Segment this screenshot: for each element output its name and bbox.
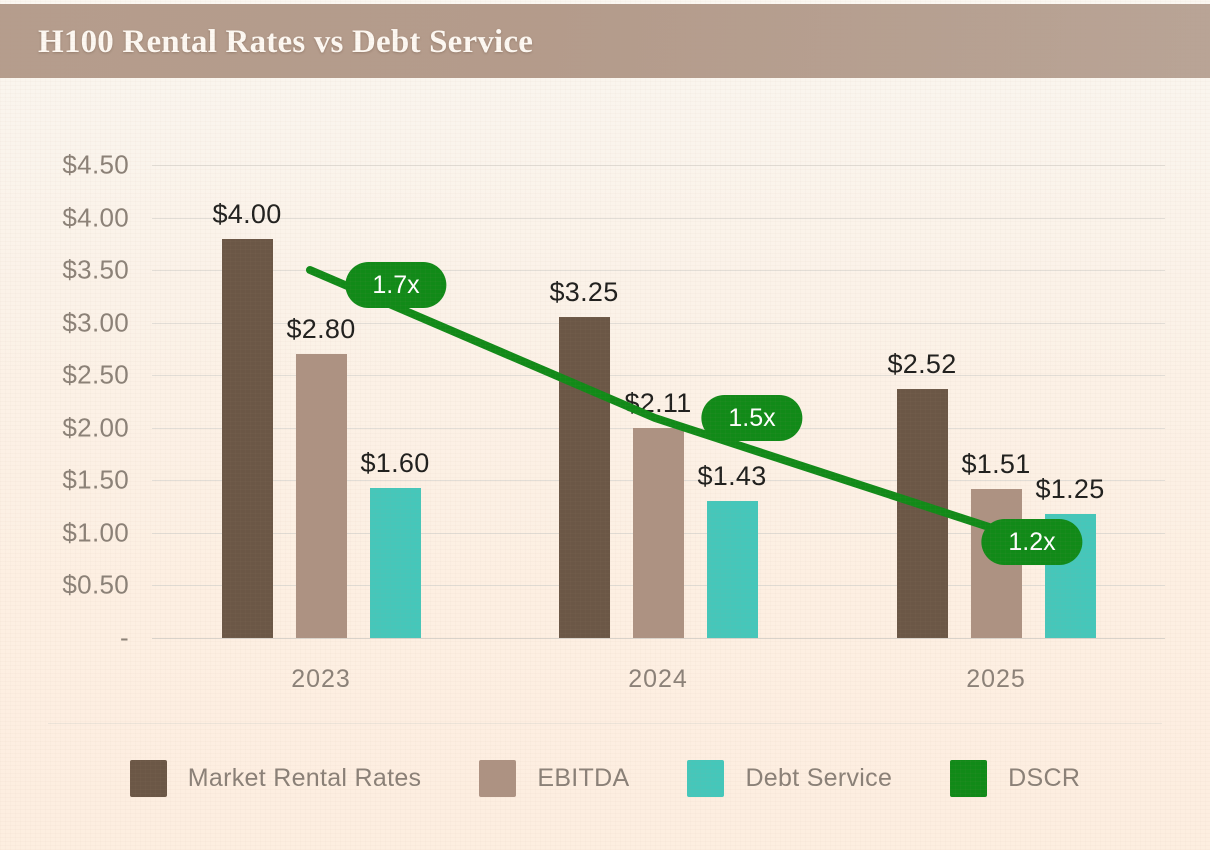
legend-item[interactable]: DSCR — [950, 760, 1080, 797]
header-bar: H100 Rental Rates vs Debt Service — [0, 4, 1210, 78]
legend-swatch-icon — [950, 760, 987, 797]
bar-value-label: $2.80 — [286, 314, 355, 345]
legend-item[interactable]: Debt Service — [687, 760, 892, 797]
legend-label: Debt Service — [745, 764, 892, 793]
x-axis-category-label: 2023 — [291, 665, 351, 694]
bar-value-label: $1.25 — [1035, 474, 1104, 505]
legend: Market Rental RatesEBITDADebt ServiceDSC… — [0, 760, 1210, 797]
bar — [633, 428, 684, 638]
legend-divider — [48, 723, 1162, 724]
page-title: H100 Rental Rates vs Debt Service — [38, 24, 533, 61]
legend-label: Market Rental Rates — [188, 764, 422, 793]
bar-value-label: $1.60 — [360, 448, 429, 479]
legend-item[interactable]: EBITDA — [479, 760, 629, 797]
bar — [370, 488, 421, 638]
bar-value-label: $1.43 — [697, 461, 766, 492]
bar-value-label: $4.00 — [212, 199, 281, 230]
x-axis-category-label: 2025 — [966, 665, 1026, 694]
bar — [296, 354, 347, 638]
bar — [897, 389, 948, 638]
chart-card: H100 Rental Rates vs Debt Service -$0.50… — [0, 0, 1210, 850]
bar-value-label: $2.52 — [887, 349, 956, 380]
legend-swatch-icon — [130, 760, 167, 797]
bar — [559, 317, 610, 638]
bar-value-label: $1.51 — [961, 449, 1030, 480]
legend-swatch-icon — [479, 760, 516, 797]
legend-item[interactable]: Market Rental Rates — [130, 760, 422, 797]
top-edge-strip — [0, 0, 1210, 4]
dscr-value-pill: 1.5x — [701, 395, 802, 441]
bar — [222, 239, 273, 638]
dscr-value-pill: 1.7x — [345, 262, 446, 308]
bar — [707, 501, 758, 638]
legend-label: EBITDA — [537, 764, 629, 793]
dscr-value-pill: 1.2x — [981, 519, 1082, 565]
legend-label: DSCR — [1008, 764, 1080, 793]
x-axis-category-label: 2024 — [628, 665, 688, 694]
bar-value-label: $2.11 — [624, 388, 691, 419]
legend-swatch-icon — [687, 760, 724, 797]
bar-value-label: $3.25 — [549, 277, 618, 308]
